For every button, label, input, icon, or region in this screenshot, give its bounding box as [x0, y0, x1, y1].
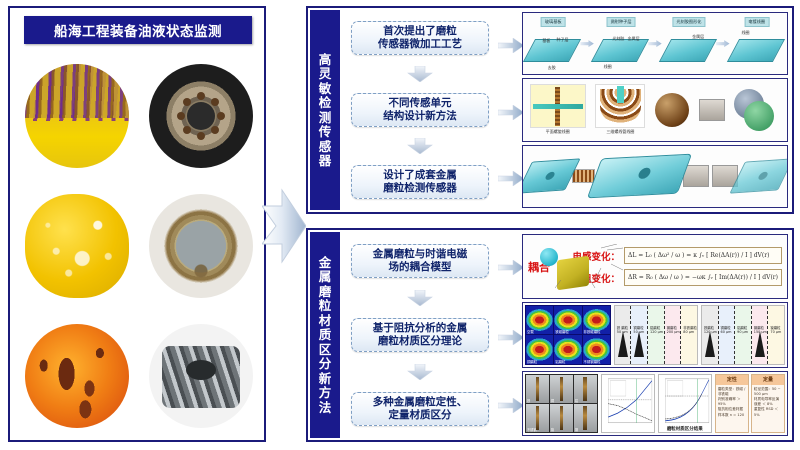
substrate-slab: [523, 39, 581, 62]
vlabel-char: 器: [319, 154, 332, 168]
signal-label: 铁 磨粒 50 μm: [617, 326, 628, 335]
figure-coupling-model: 耦合 电感变化： ΔL = L₀ ( Δω²: [522, 234, 788, 299]
table-row: 粒径范围：50 ~ 500 μm: [754, 387, 782, 397]
signal-plot-right: 铁磨粒 120 μm 铜磨粒 60 μm 铝磨粒 90 μm 钢磨粒 150 μ…: [701, 305, 785, 364]
dual-coil-differential-model: [734, 89, 780, 131]
signal-label: 铜磨粒 50 μm: [633, 326, 644, 335]
big-right-arrow-icon: [262, 188, 306, 264]
panel-sensor-figure-column: 玻璃基板 基板 种子层 去胶 溅射种子层 光刻胶 金属层 线圈 光刻胶图形化: [522, 12, 788, 208]
photo-corroded-cylinder-part: [149, 194, 253, 298]
signal-cell: 钢磨粒 150 μm: [752, 306, 769, 363]
flow-step-label: 基于阻抗分析的金属 磨粒材质区分理论: [373, 322, 468, 349]
flow-step-box[interactable]: 金属磨粒与时谐电磁 场的耦合模型: [351, 244, 489, 279]
signal-cell: 铁 磨粒 50 μm: [615, 306, 632, 363]
flow-step-box[interactable]: 多种金属磨粒定性、 定量材质区分: [351, 392, 489, 427]
particle-label: 镍: [551, 427, 554, 432]
fabricated-photos: [683, 165, 738, 187]
figure-material-discrimination-results: 铁 铜 铝 不锈钢 镍 锡: [522, 371, 788, 436]
heatmap-label: 铝磨粒: [555, 359, 565, 364]
vlabel-char: 磨: [319, 285, 332, 299]
panel-sensor-flow-column: 首次提出了磨粒 传感器微加工工艺 不同传感单元 结构设计新方法 设计了成套金属 …: [344, 10, 496, 210]
particle-photo: 镍: [550, 404, 573, 432]
signal-cell: 铜磨粒 60 μm: [719, 306, 736, 363]
vlabel-char: 传: [319, 125, 332, 139]
vlabel-char: 感: [319, 140, 332, 154]
substrate-slab: [659, 39, 717, 62]
coupling-diagram: [555, 244, 568, 290]
structure-solenoid-coil: 三维螺线管线圈: [595, 84, 645, 135]
figure-sensor-device-models: [522, 145, 788, 208]
heatmap-cell: 铁磁磨粒: [554, 306, 581, 334]
flow-step-label: 首次提出了磨粒 传感器微加工工艺: [378, 25, 462, 52]
signal-label: 铝磨粒 90 μm: [737, 326, 748, 335]
table-body: 磨粒类型：铁磁 / 非铁磁 判别准确率 ＞ 95% 阻抗相位差判据 样本数 n …: [716, 385, 748, 432]
figure-impedance-field-analysis: 空载 铁磁磨粒 非铁磁磨粒 铜磨粒 铝磨粒 不锈钢磨粒 铁 磨粒 50 μm 铜…: [522, 302, 788, 367]
signal-label: 非铁磨粒 80 μm: [683, 326, 697, 335]
signal-peak: [755, 331, 765, 357]
heatmap-cell: 铝磨粒: [554, 335, 581, 363]
formula-expression: ΔL = L₀ ( Δω² / ω ) = κ ∫ᵥ [ Re(ΔA(r)) /…: [624, 247, 782, 264]
particle-photo: 铁: [526, 375, 549, 403]
panel-material-figure-column: 耦合 电感变化： ΔL = L₀ ( Δω²: [522, 234, 788, 436]
vlabel-char: 方: [319, 386, 332, 400]
table-row: 样本数 n = 120: [718, 413, 746, 418]
particle-label: 不锈钢: [527, 427, 537, 432]
panel-material-flow-column: 金属磨粒与时谐电磁 场的耦合模型 基于阻抗分析的金属 磨粒材质区分理论 多种金属…: [344, 232, 496, 438]
heatmap-label: 非铁磁磨粒: [584, 329, 601, 334]
particle-label: 铝: [575, 398, 578, 403]
signal-label: 铝磨粒 120 μm: [650, 326, 663, 335]
photo-oil-sample-streaked: [25, 64, 129, 168]
sensor-chip-model-channel: [730, 159, 788, 194]
solenoid-coil-cross-section: [595, 84, 645, 128]
fab-label: 金属层: [628, 36, 640, 42]
down-arrow-icon: [407, 66, 433, 82]
field-heatmap-grid: 空载 铁磁磨粒 非铁磁磨粒 铜磨粒 铝磨粒 不锈钢磨粒: [525, 305, 611, 364]
table-row: 重复性 RSD ＜ 5%: [754, 407, 782, 417]
oil-condition-monitoring-panel: 船海工程装备油液状态监测: [8, 6, 266, 442]
table-header: 定性: [716, 375, 748, 385]
photo-damaged-helical-gear: [149, 324, 253, 428]
signal-peak: [618, 331, 628, 357]
vlabel-char: 区: [319, 343, 332, 357]
vlabel-char: 粒: [319, 299, 332, 313]
fab-label: 线圈: [604, 64, 612, 70]
fab-step: 玻璃基板 基板 种子层 去胶: [526, 15, 580, 72]
vlabel-char: 金: [319, 256, 332, 270]
down-arrow-icon: [407, 364, 433, 380]
qualitative-table: 定性 磨粒类型：铁磁 / 非铁磁 判别准确率 ＞ 95% 阻抗相位差判据 样本数…: [715, 374, 749, 433]
fab-label: 去胶: [548, 65, 556, 71]
right-arrow-icon: [498, 105, 524, 120]
substrate-slab: [727, 39, 785, 62]
flow-step-box[interactable]: 不同传感单元 结构设计新方法: [351, 93, 489, 128]
vlabel-char: 法: [319, 401, 332, 415]
vlabel-char: 分: [319, 357, 332, 371]
fab-step-caption: 玻璃基板: [541, 17, 566, 27]
fab-label: 光刻胶: [612, 36, 624, 42]
flow-step-label: 多种金属磨粒定性、 定量材质区分: [373, 396, 468, 423]
flow-step-label: 设计了成套金属 磨粒检测传感器: [383, 169, 457, 196]
panel-material-vertical-label: 金 属 磨 粒 材 质 区 分 新 方 法: [310, 232, 340, 438]
signal-cell: 非铁磨粒 80 μm: [681, 306, 697, 363]
heatmap-label: 铜磨粒: [527, 359, 537, 364]
down-arrow-icon: [407, 138, 433, 154]
particle-photo-grid: 铁 铜 铝 不锈钢 镍 锡: [525, 374, 598, 433]
table-row: 磨粒类型：铁磁 / 非铁磁: [718, 387, 746, 397]
fab-step: 电镀线圈 线圈: [730, 15, 784, 72]
signal-label: 铜磨粒 60 μm: [721, 326, 732, 335]
electroplated-coil-strip: [572, 169, 595, 183]
sensor-chip-model-small: [522, 159, 580, 194]
heatmap-cell: 不锈钢磨粒: [583, 335, 610, 363]
discrimination-curve-plot-2: 磨粒材质区分结果: [658, 374, 712, 433]
table-header: 定量: [752, 375, 784, 385]
right-arrow-icon: [498, 171, 524, 186]
signal-cell: 铜磨粒 50 μm: [631, 306, 648, 363]
signal-cell: 钢磨粒 200 μm: [665, 306, 682, 363]
vlabel-char: 新: [319, 372, 332, 386]
figure-microfabrication-process: 玻璃基板 基板 种子层 去胶 溅射种子层 光刻胶 金属层 线圈 光刻胶图形化: [522, 12, 788, 75]
sensor-chip-model-large: [587, 154, 692, 199]
table-row: 阻抗相位差判据: [718, 407, 746, 412]
down-arrow-icon: [407, 290, 433, 306]
discrimination-curve-plot-1: [601, 374, 655, 433]
figure-sensing-unit-structures: 平面螺旋线圈 三维螺线管线圈: [522, 78, 788, 141]
vlabel-char: 质: [319, 328, 332, 342]
right-arrow-icon: [648, 40, 661, 47]
right-arrow-icon: [498, 398, 524, 413]
photo-grid: [16, 52, 262, 440]
figure-caption: 磨粒材质区分结果: [659, 426, 711, 432]
substrate-slab: [591, 39, 649, 62]
right-arrow-icon: [498, 330, 524, 345]
signal-peak: [705, 331, 715, 357]
result-tables: 定性 磨粒类型：铁磁 / 非铁磁 判别准确率 ＞ 95% 阻抗相位差判据 样本数…: [715, 374, 785, 433]
structure-planar-coil: 平面螺旋线圈: [530, 84, 586, 135]
page-title-banner: 船海工程装备油液状态监测: [24, 16, 252, 44]
structure-caption: 平面螺旋线圈: [530, 129, 586, 135]
vlabel-char: 高: [319, 53, 332, 67]
panel-sensor-vertical-label: 高 灵 敏 检 测 传 感 器: [310, 10, 340, 210]
fab-label: 金属层: [692, 34, 704, 40]
signal-cell: 镍磨粒 70 μm: [768, 306, 784, 363]
heatmap-label: 不锈钢磨粒: [584, 359, 601, 364]
wear-particle-material-panel: 金 属 磨 粒 材 质 区 分 新 方 法 金属磨粒与时谐电磁 场的耦合模型 基…: [306, 228, 794, 442]
table-body: 粒径范围：50 ~ 500 μm 材质电导率反演 误差 ＜ 8% 重复性 RSD…: [752, 385, 784, 432]
particle-photo: 不锈钢: [526, 404, 549, 432]
particle-sphere-model: [655, 93, 689, 127]
vlabel-char: 检: [319, 96, 332, 110]
right-arrow-icon: [716, 40, 729, 47]
photo-oil-with-wear-debris: [25, 324, 129, 428]
vlabel-char: 测: [319, 111, 332, 125]
vlabel-char: 材: [319, 314, 332, 328]
heatmap-cell: 非铁磁磨粒: [583, 306, 610, 334]
coil-photo: [683, 165, 709, 187]
fab-step-caption: 光刻胶图形化: [672, 17, 705, 27]
signal-label: 钢磨粒 200 μm: [667, 326, 680, 335]
particle-photo: 铜: [550, 375, 573, 403]
heatmap-label: 铁磁磨粒: [555, 329, 569, 334]
planar-coil-cross-section: [530, 84, 586, 128]
fab-step-caption: 电镀线圈: [744, 17, 769, 27]
fab-label: 线圈: [742, 30, 750, 36]
flow-step-label: 金属磨粒与时谐电磁 场的耦合模型: [373, 248, 468, 275]
fab-label: 基板: [542, 38, 550, 44]
flow-step-label: 不同传感单元 结构设计新方法: [383, 97, 457, 124]
signal-label: 钢磨粒 150 μm: [754, 326, 767, 335]
flow-step-box[interactable]: 基于阻抗分析的金属 磨粒材质区分理论: [351, 318, 489, 353]
fab-step: 光刻胶图形化 金属层: [662, 15, 716, 72]
fab-step-caption: 溅射种子层: [607, 17, 636, 27]
right-arrow-icon: [498, 260, 524, 275]
page-title: 船海工程装备油液状态监测: [54, 20, 222, 40]
heatmap-label: 空载: [527, 329, 534, 334]
particle-micrograph: [699, 99, 725, 121]
vlabel-char: 敏: [319, 82, 332, 96]
right-arrow-icon: [580, 40, 593, 47]
particle-photo: 铝: [574, 375, 597, 403]
signal-cell: 铝磨粒 90 μm: [735, 306, 752, 363]
particle-label: 铁: [527, 398, 530, 403]
flow-step-box[interactable]: 首次提出了磨粒 传感器微加工工艺: [351, 21, 489, 56]
quantitative-table: 定量 粒径范围：50 ~ 500 μm 材质电导率反演 误差 ＜ 8% 重复性 …: [751, 374, 785, 433]
particle-label: 锡: [575, 427, 578, 432]
structure-caption: 三维螺线管线圈: [595, 129, 645, 135]
high-sensitivity-sensor-panel: 高 灵 敏 检 测 传 感 器 首次提出了磨粒 传感器微加工工艺 不同传感单元 …: [306, 6, 794, 214]
particle-photo: 锡: [574, 404, 597, 432]
fab-label: 种子层: [556, 37, 568, 43]
signal-plot-left: 铁 磨粒 50 μm 铜磨粒 50 μm 铝磨粒 120 μm 钢磨粒 200 …: [614, 305, 698, 364]
heatmap-cell: 空载: [526, 306, 553, 334]
flow-step-box[interactable]: 设计了成套金属 磨粒检测传感器: [351, 165, 489, 200]
photo-bearing-flange-part: [149, 64, 253, 168]
right-arrow-icon: [498, 38, 524, 53]
vlabel-char: 属: [319, 270, 332, 284]
fab-step: 溅射种子层 光刻胶 金属层 线圈: [594, 15, 648, 72]
signal-label: 镍磨粒 70 μm: [770, 326, 781, 335]
signal-label: 铁磨粒 120 μm: [704, 326, 717, 335]
signal-cell: 铝磨粒 120 μm: [648, 306, 665, 363]
signal-cell: 铁磨粒 120 μm: [702, 306, 719, 363]
signal-peak: [634, 331, 644, 357]
photo-oil-with-water-droplets: [25, 194, 129, 298]
vlabel-char: 灵: [319, 67, 332, 81]
heatmap-cell: 铜磨粒: [526, 335, 553, 363]
particle-label: 铜: [551, 398, 554, 403]
table-row: 判别准确率 ＞ 95%: [718, 397, 746, 407]
formula-expression: ΔR = R₀ ( Δω / ω ) = −ωκ ∫ᵥ [ Im(ΔA(r)) …: [624, 269, 782, 286]
